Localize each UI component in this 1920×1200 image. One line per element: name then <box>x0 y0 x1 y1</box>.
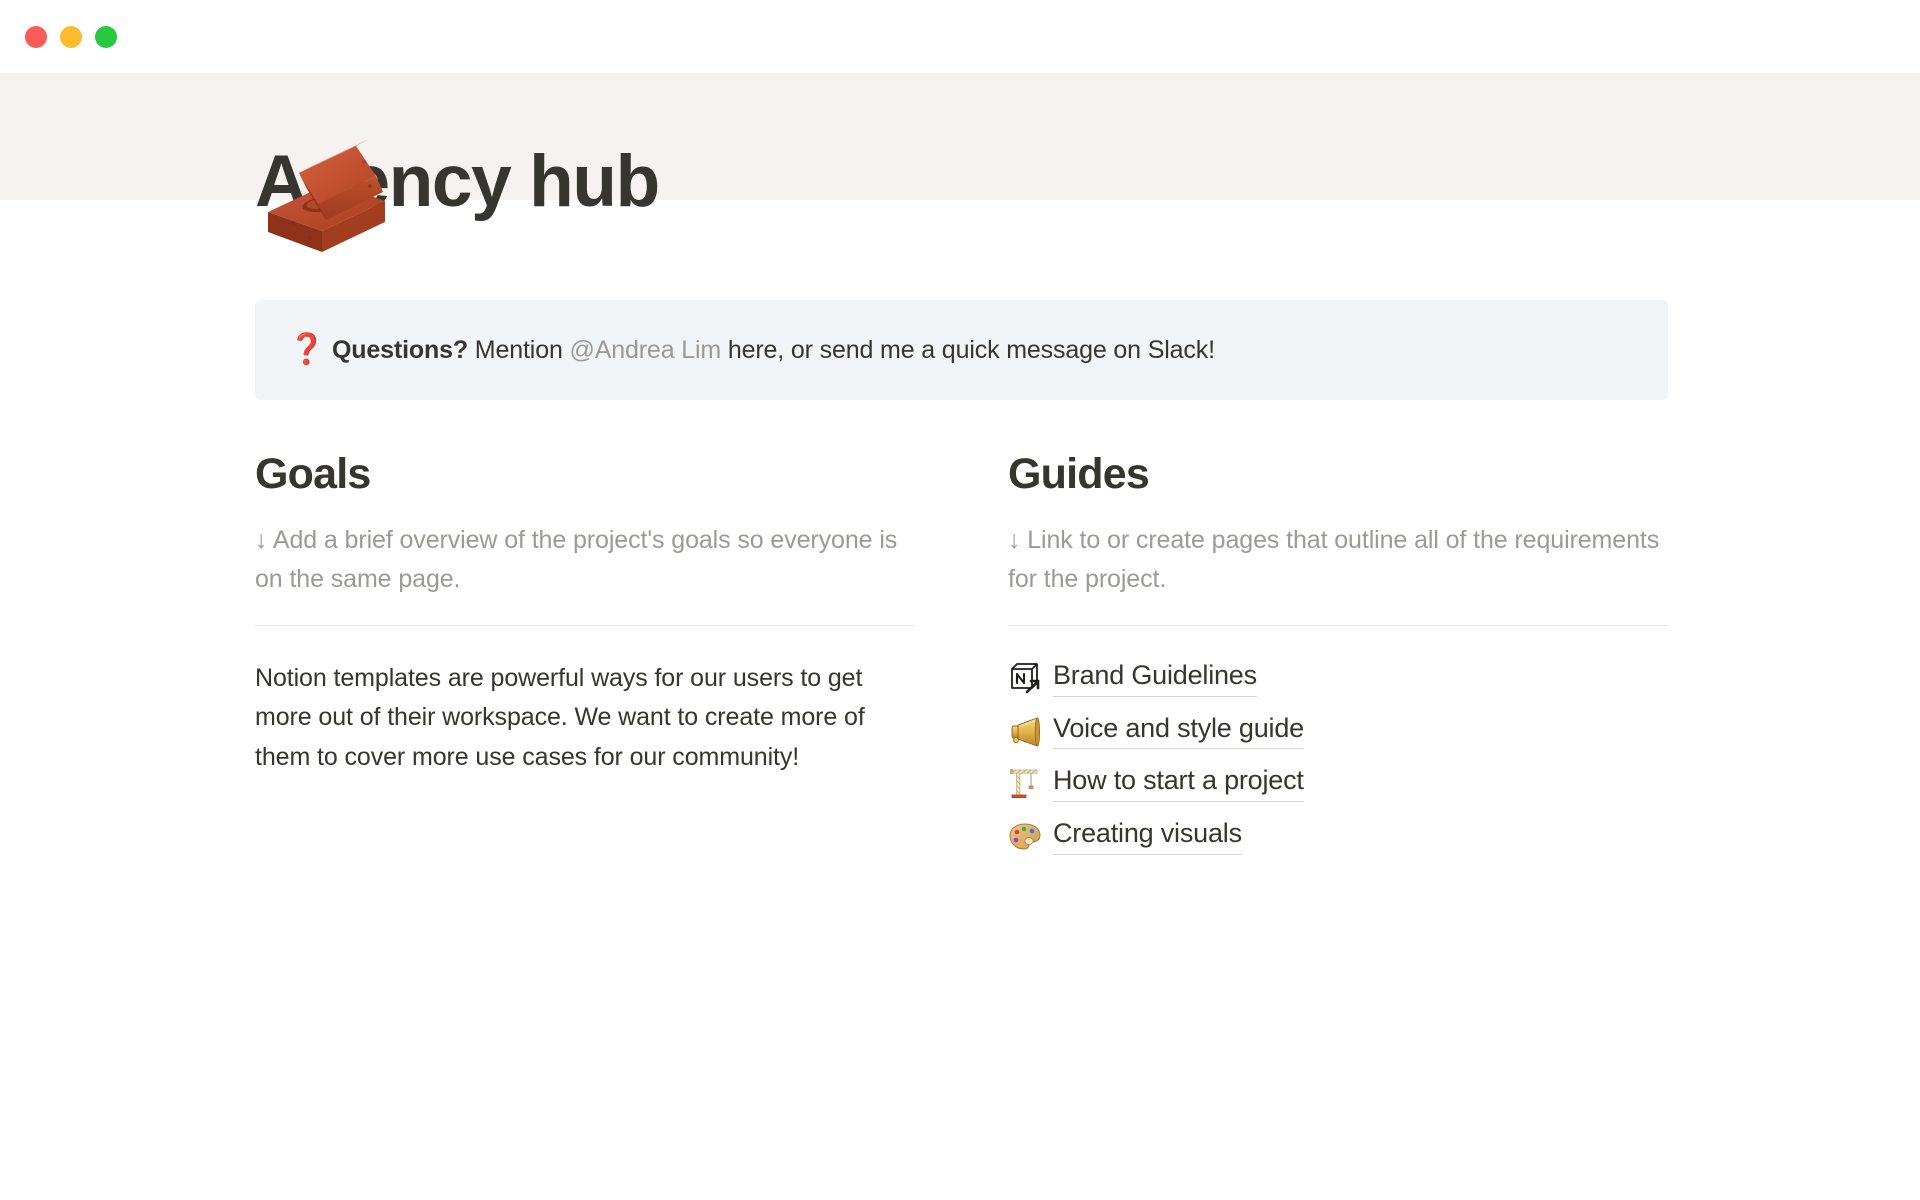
guides-hint: ↓ Link to or create pages that outline a… <box>1008 521 1668 599</box>
guides-heading: Guides <box>1008 450 1668 499</box>
user-mention[interactable]: @Andrea Lim <box>570 336 722 364</box>
question-mark-icon: ❓ <box>288 335 322 365</box>
guide-link-label[interactable]: Voice and style guide <box>1053 712 1304 750</box>
artist-palette-icon <box>1008 819 1042 853</box>
notion-page-link-icon <box>1008 661 1042 695</box>
callout-text-before-mention: Mention <box>468 336 569 364</box>
goals-heading: Goals <box>255 450 915 499</box>
goals-body-text[interactable]: Notion templates are powerful ways for o… <box>255 659 915 778</box>
window-titlebar <box>0 0 1920 73</box>
goals-divider <box>255 625 915 626</box>
list-item[interactable]: Creating visuals <box>1008 817 1668 855</box>
megaphone-icon <box>1008 714 1042 748</box>
close-window-button[interactable] <box>25 26 47 48</box>
traffic-light-group <box>25 26 117 48</box>
app-window: Agency hub ❓ Questions? Mention @Andrea … <box>0 0 1920 1200</box>
brick-icon[interactable] <box>252 100 404 252</box>
list-item[interactable]: How to start a project <box>1008 764 1668 802</box>
construction-crane-icon <box>1008 766 1042 800</box>
column-goals: Goals ↓ Add a brief overview of the proj… <box>255 450 915 855</box>
guide-link-label[interactable]: How to start a project <box>1053 764 1304 802</box>
goals-hint: ↓ Add a brief overview of the project's … <box>255 521 915 599</box>
list-item[interactable]: Brand Guidelines <box>1008 659 1668 697</box>
questions-callout[interactable]: ❓ Questions? Mention @Andrea Lim here, o… <box>255 300 1668 400</box>
guides-divider <box>1008 625 1668 626</box>
maximize-window-button[interactable] <box>95 26 117 48</box>
callout-bold-text: Questions? <box>332 336 468 364</box>
callout-text: Questions? Mention @Andrea Lim here, or … <box>332 332 1215 368</box>
callout-text-after-mention: here, or send me a quick message on Slac… <box>721 336 1215 364</box>
column-guides: Guides ↓ Link to or create pages that ou… <box>1008 450 1668 855</box>
guide-link-label[interactable]: Creating visuals <box>1053 817 1242 855</box>
minimize-window-button[interactable] <box>60 26 82 48</box>
two-column-section: Goals ↓ Add a brief overview of the proj… <box>255 450 1668 855</box>
guide-link-list: Brand Guidelines <box>1008 659 1668 855</box>
list-item[interactable]: Voice and style guide <box>1008 712 1668 750</box>
guide-link-label[interactable]: Brand Guidelines <box>1053 659 1257 697</box>
